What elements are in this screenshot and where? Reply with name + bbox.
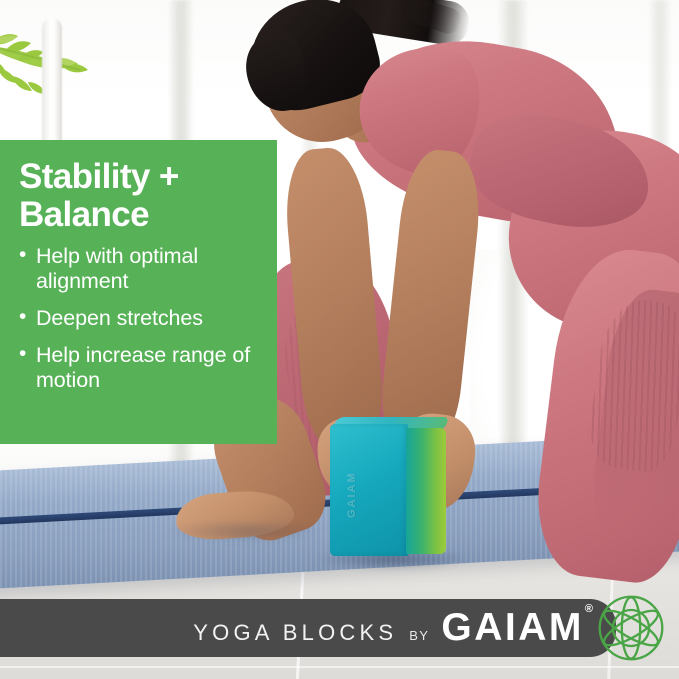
brand-banner: YOGA BLOCKS BY GAIAM® — [0, 599, 616, 657]
brand-banner-row: YOGA BLOCKS BY GAIAM® — [193, 606, 592, 650]
yoga-block-front-face: GAIAM — [330, 424, 408, 556]
marketing-image: GAIAM Stability + Balance Help with opti… — [0, 0, 679, 679]
callout-bullet-item: Help with optimal alignment — [19, 244, 263, 294]
banner-by-label: BY — [409, 628, 429, 643]
yoga-block-product: GAIAM — [330, 424, 446, 559]
yoga-block-side-face — [406, 428, 446, 554]
banner-brand-text: GAIAM — [441, 606, 584, 649]
callout-bullet-list: Help with optimal alignment Deepen stret… — [19, 244, 263, 394]
banner-product-label: YOGA BLOCKS — [193, 620, 397, 646]
callout-title: Stability + Balance — [19, 158, 263, 234]
right-arm — [377, 147, 486, 454]
callout-bullet-item: Deepen stretches — [19, 306, 263, 331]
feature-callout-panel: Stability + Balance Help with optimal al… — [0, 140, 277, 444]
floor-grout-line — [0, 666, 679, 668]
yoga-block-embossed-logo: GAIAM — [346, 464, 392, 526]
registered-trademark-icon: ® — [585, 603, 593, 615]
gaiam-flower-of-life-logo — [597, 594, 665, 662]
banner-brand-name: GAIAM® — [441, 606, 592, 650]
callout-bullet-item: Help increase range of motion — [19, 343, 263, 393]
foot-shadow — [170, 520, 320, 542]
